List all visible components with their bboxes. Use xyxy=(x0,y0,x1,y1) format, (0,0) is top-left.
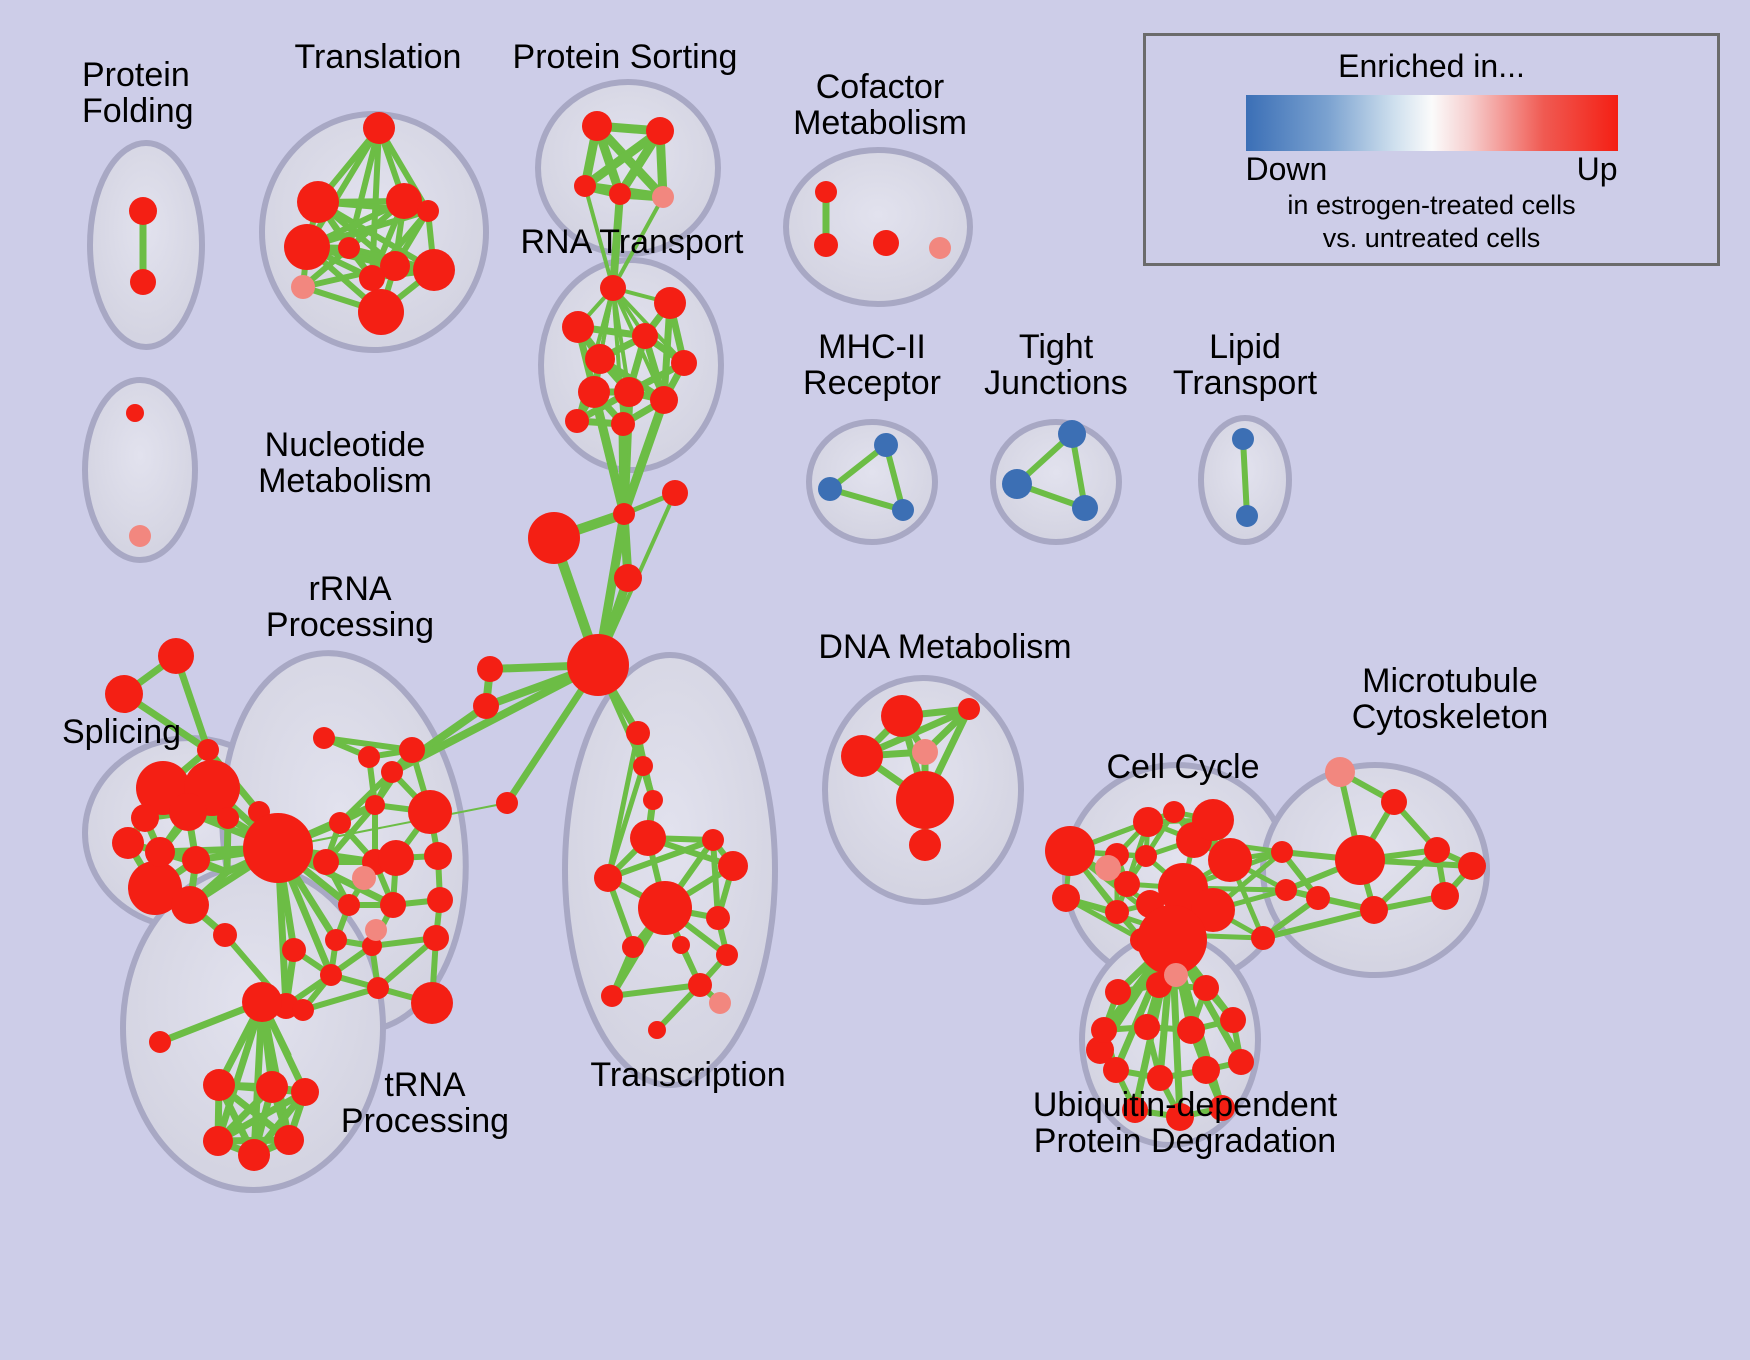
node xyxy=(929,237,951,259)
node xyxy=(1002,469,1032,499)
node xyxy=(203,1126,233,1156)
node xyxy=(1192,1056,1220,1084)
node xyxy=(585,344,615,374)
node xyxy=(243,813,313,883)
node xyxy=(638,881,692,935)
node xyxy=(841,735,883,777)
node xyxy=(702,829,724,851)
node xyxy=(1163,801,1185,823)
node xyxy=(600,275,626,301)
node xyxy=(1275,879,1297,901)
node xyxy=(1193,975,1219,1001)
node xyxy=(297,181,339,223)
node xyxy=(282,938,306,962)
cluster-label-splicing: Splicing xyxy=(62,715,262,751)
node xyxy=(1325,757,1355,787)
node xyxy=(662,480,688,506)
node xyxy=(424,842,452,870)
node xyxy=(320,964,342,986)
node xyxy=(1335,835,1385,885)
node xyxy=(408,790,452,834)
cluster-label-trna-processing: tRNA Processing xyxy=(300,1068,550,1139)
node xyxy=(213,923,237,947)
node xyxy=(129,525,151,547)
node xyxy=(601,985,623,1007)
cluster-label-tight-junctions: Tight Junctions xyxy=(956,330,1156,401)
node xyxy=(1192,799,1234,841)
node xyxy=(238,1139,270,1171)
node xyxy=(654,287,686,319)
node xyxy=(359,265,385,291)
node xyxy=(648,1021,666,1039)
node xyxy=(112,827,144,859)
cluster-label-cell-cycle: Cell Cycle xyxy=(1083,750,1283,786)
node xyxy=(1105,979,1131,1005)
node xyxy=(380,892,406,918)
cluster-label-dna-metabolism: DNA Metabolism xyxy=(790,630,1100,666)
node xyxy=(145,837,175,867)
node xyxy=(1105,900,1129,924)
node xyxy=(706,906,730,930)
node xyxy=(126,404,144,422)
node xyxy=(417,200,439,222)
node xyxy=(633,756,653,776)
cluster-label-transcription: Transcription xyxy=(558,1058,818,1094)
node xyxy=(1271,841,1293,863)
node xyxy=(158,638,194,674)
node xyxy=(528,512,580,564)
node xyxy=(291,275,315,299)
node xyxy=(646,117,674,145)
node xyxy=(473,693,499,719)
legend-panel: Enriched in... Down Up in estrogen-treat… xyxy=(1143,33,1720,266)
node xyxy=(1135,845,1157,867)
node xyxy=(1164,963,1188,987)
cluster-label-rna-transport: RNA Transport xyxy=(492,225,772,261)
node xyxy=(131,804,159,832)
node xyxy=(313,849,339,875)
node xyxy=(814,233,838,257)
node xyxy=(626,721,650,745)
node xyxy=(1052,884,1080,912)
legend-color-bar xyxy=(1246,95,1618,151)
node xyxy=(130,269,156,295)
node xyxy=(643,790,663,810)
node xyxy=(284,224,330,270)
node xyxy=(567,634,629,696)
cluster-label-microtubule-cytoskeleton: Microtubule Cytoskeleton xyxy=(1290,664,1610,735)
legend-low-label: Down xyxy=(1246,151,1328,188)
node xyxy=(874,433,898,457)
node xyxy=(381,761,403,783)
legend-caption-line2: vs. untreated cells xyxy=(1146,223,1717,254)
node xyxy=(958,698,980,720)
node xyxy=(358,289,404,335)
node xyxy=(1103,1057,1129,1083)
node xyxy=(688,973,712,997)
node xyxy=(672,936,690,954)
node xyxy=(578,376,610,408)
node xyxy=(881,695,923,737)
node xyxy=(1360,896,1388,924)
node xyxy=(427,887,453,913)
node xyxy=(1424,837,1450,863)
cluster-label-translation: Translation xyxy=(248,40,508,76)
node xyxy=(1177,1016,1205,1044)
node xyxy=(815,181,837,203)
node xyxy=(1091,1017,1117,1043)
node xyxy=(1458,852,1486,880)
node xyxy=(171,886,209,924)
node xyxy=(652,186,674,208)
node xyxy=(358,746,380,768)
node xyxy=(892,499,914,521)
node xyxy=(1431,882,1459,910)
node xyxy=(378,840,414,876)
node xyxy=(399,737,425,763)
cluster-label-nucleotide-metabolism: Nucleotide Metabolism xyxy=(200,428,490,499)
node xyxy=(562,311,594,343)
node xyxy=(614,377,644,407)
node xyxy=(338,237,360,259)
node xyxy=(256,1071,288,1103)
node xyxy=(338,894,360,916)
node xyxy=(716,944,738,966)
node xyxy=(873,230,899,256)
node xyxy=(182,846,210,874)
halo-cofactor xyxy=(786,150,970,304)
node xyxy=(352,866,376,890)
node xyxy=(1058,420,1086,448)
node xyxy=(1134,1014,1160,1040)
node xyxy=(169,793,207,831)
node xyxy=(386,183,422,219)
cluster-label-lipid-transport: Lipid Transport xyxy=(1145,330,1345,401)
cluster-label-protein-sorting: Protein Sorting xyxy=(480,40,770,76)
legend-high-label: Up xyxy=(1577,151,1618,188)
node xyxy=(613,503,635,525)
node xyxy=(565,409,589,433)
cluster-label-rrna-processing: rRNA Processing xyxy=(240,572,460,643)
node xyxy=(611,412,635,436)
node xyxy=(1381,789,1407,815)
node xyxy=(818,477,842,501)
node xyxy=(365,795,385,815)
node xyxy=(496,792,518,814)
node xyxy=(632,323,658,349)
node xyxy=(650,386,678,414)
node xyxy=(1306,886,1330,910)
node xyxy=(1220,1007,1246,1033)
node xyxy=(242,982,282,1022)
node xyxy=(1045,826,1095,876)
node xyxy=(1232,428,1254,450)
legend-title: Enriched in... xyxy=(1146,48,1717,85)
node xyxy=(129,197,157,225)
node xyxy=(411,982,453,1024)
node xyxy=(423,925,449,951)
cluster-label-ubiquitin-degradation: Ubiquitin-dependent Protein Degradation xyxy=(975,1088,1395,1159)
node xyxy=(1208,838,1252,882)
cluster-label-cofactor-metabolism: Cofactor Metabolism xyxy=(760,70,1000,141)
node xyxy=(718,851,748,881)
node xyxy=(609,183,631,205)
node xyxy=(149,1031,171,1053)
node xyxy=(217,807,239,829)
node xyxy=(574,175,596,197)
node xyxy=(896,771,954,829)
node xyxy=(1236,505,1258,527)
node xyxy=(1228,1049,1254,1075)
node xyxy=(622,936,644,958)
node xyxy=(1095,855,1121,881)
node xyxy=(630,820,666,856)
legend-caption-line1: in estrogen-treated cells xyxy=(1146,190,1717,221)
node xyxy=(329,812,351,834)
node xyxy=(363,112,395,144)
node xyxy=(614,564,642,592)
node xyxy=(582,111,612,141)
node xyxy=(313,727,335,749)
node xyxy=(594,864,622,892)
node xyxy=(365,919,387,941)
node xyxy=(1072,495,1098,521)
node xyxy=(105,675,143,713)
node xyxy=(325,929,347,951)
node xyxy=(1133,807,1163,837)
node xyxy=(292,999,314,1021)
network-figure: Protein Folding Translation Protein Sort… xyxy=(0,0,1750,1360)
node xyxy=(413,249,455,291)
cluster-label-mhc-ii-receptor: MHC-II Receptor xyxy=(772,330,972,401)
node xyxy=(912,739,938,765)
node xyxy=(909,829,941,861)
node xyxy=(477,656,503,682)
node xyxy=(671,350,697,376)
node xyxy=(1251,926,1275,950)
node xyxy=(367,977,389,999)
node xyxy=(203,1069,235,1101)
node xyxy=(709,992,731,1014)
